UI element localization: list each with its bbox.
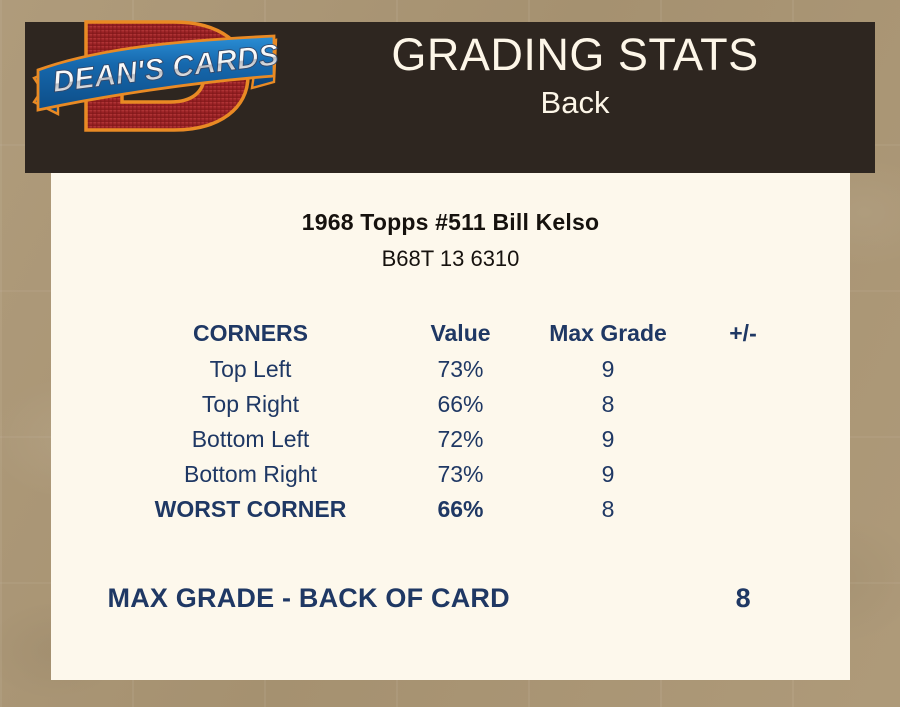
table-body: Top Left 73% 9 Top Right 66% 8 Bottom Le… bbox=[106, 352, 796, 527]
row-max-grade: 8 bbox=[526, 387, 691, 422]
row-plus-minus bbox=[691, 457, 796, 492]
row-max-grade: 9 bbox=[526, 422, 691, 457]
row-label: Top Left bbox=[106, 352, 396, 387]
column-header-plus-minus: +/- bbox=[691, 314, 796, 352]
row-plus-minus bbox=[691, 492, 796, 527]
content-panel: 1968 Topps #511 Bill Kelso B68T 13 6310 … bbox=[51, 173, 850, 680]
row-value: 66% bbox=[396, 387, 526, 422]
column-header-max-grade: Max Grade bbox=[526, 314, 691, 352]
row-label: WORST CORNER bbox=[106, 492, 396, 527]
deans-cards-logo: DEAN'S CARDS bbox=[24, 6, 286, 146]
row-label: Bottom Right bbox=[106, 457, 396, 492]
table-row: Bottom Left 72% 9 bbox=[106, 422, 796, 457]
table-row: Bottom Right 73% 9 bbox=[106, 457, 796, 492]
row-value: 73% bbox=[396, 352, 526, 387]
page-subtitle: Back bbox=[541, 83, 610, 123]
row-plus-minus bbox=[691, 422, 796, 457]
table-row: Top Left 73% 9 bbox=[106, 352, 796, 387]
grading-stats-table: CORNERS Value Max Grade +/- Top Left 73%… bbox=[106, 314, 796, 527]
table-header: CORNERS Value Max Grade +/- bbox=[106, 314, 796, 352]
row-label: Bottom Left bbox=[106, 422, 396, 457]
row-max-grade: 9 bbox=[526, 352, 691, 387]
row-value: 66% bbox=[396, 492, 526, 527]
max-grade-summary-value: 8 bbox=[691, 583, 796, 614]
max-grade-summary-label: MAX GRADE - BACK OF CARD bbox=[106, 583, 691, 614]
table-row-worst-corner: WORST CORNER 66% 8 bbox=[106, 492, 796, 527]
page-title: GRADING STATS bbox=[391, 29, 758, 81]
table-row: Top Right 66% 8 bbox=[106, 387, 796, 422]
row-max-grade: 8 bbox=[526, 492, 691, 527]
table-header-row: CORNERS Value Max Grade +/- bbox=[106, 314, 796, 352]
row-plus-minus bbox=[691, 387, 796, 422]
logo-artwork: DEAN'S CARDS bbox=[24, 6, 286, 146]
card-code: B68T 13 6310 bbox=[51, 246, 850, 272]
row-value: 72% bbox=[396, 422, 526, 457]
column-header-value: Value bbox=[396, 314, 526, 352]
row-value: 73% bbox=[396, 457, 526, 492]
row-label: Top Right bbox=[106, 387, 396, 422]
max-grade-summary: MAX GRADE - BACK OF CARD 8 bbox=[106, 583, 796, 614]
row-max-grade: 9 bbox=[526, 457, 691, 492]
row-plus-minus bbox=[691, 352, 796, 387]
header-titles: GRADING STATS Back bbox=[300, 0, 850, 151]
column-header-corners: CORNERS bbox=[106, 314, 396, 352]
card-title: 1968 Topps #511 Bill Kelso bbox=[51, 209, 850, 236]
